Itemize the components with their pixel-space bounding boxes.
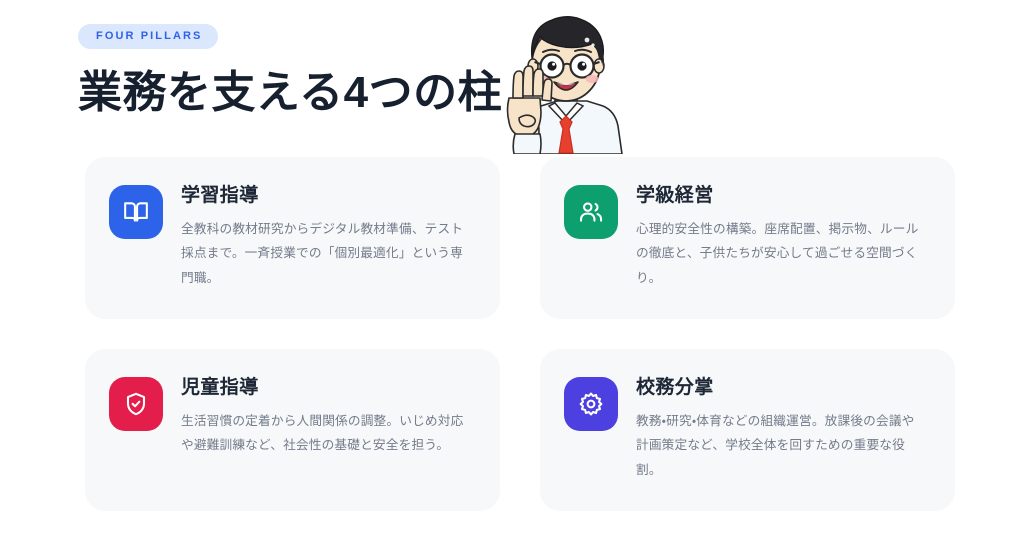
teacher-character-illustration <box>497 2 637 154</box>
page-title: 業務を支える4つの柱 <box>78 67 558 119</box>
pillar-card-gakkyu-keiei[interactable]: 学級経営 心理的安全性の構築。座席配置、掲示物、ルールの徹底と、子供たちが安心し… <box>540 157 955 319</box>
pillar-card-jido-shido[interactable]: 児童指導 生活習慣の定着から人間関係の調整。いじめ対応や避難訓練など、社会性の基… <box>85 349 500 511</box>
pillar-card-body: 学級経営 心理的安全性の構築。座席配置、掲示物、ルールの徹底と、子供たちが安心し… <box>636 183 925 290</box>
pillar-icon-tile <box>564 377 618 431</box>
pillar-card-body: 学習指導 全教科の教材研究からデジタル教材準備、テスト採点まで。一斉授業での「個… <box>181 183 470 290</box>
users-icon <box>578 199 604 225</box>
pillar-card-title: 校務分掌 <box>636 376 925 400</box>
gear-icon <box>578 391 604 417</box>
pillar-card-title: 学習指導 <box>181 184 470 208</box>
pillar-card-description: 教務・研究・体育などの組織運営。放課後の会議や計画策定など、学校全体を回すための… <box>636 409 925 482</box>
eyebrow-badge: FOUR PILLARS <box>78 24 218 49</box>
page-root: FOUR PILLARS 業務を支える4つの柱 <box>0 0 1024 538</box>
four-pillars-card-grid: 学習指導 全教科の教材研究からデジタル教材準備、テスト採点まで。一斉授業での「個… <box>85 157 955 511</box>
book-open-icon <box>123 199 149 225</box>
pillar-card-body: 児童指導 生活習慣の定着から人間関係の調整。いじめ対応や避難訓練など、社会性の基… <box>181 375 470 458</box>
pillar-card-body: 校務分掌 教務・研究・体育などの組織運営。放課後の会議や計画策定など、学校全体を… <box>636 375 925 482</box>
pillar-card-title: 学級経営 <box>636 184 925 208</box>
pillar-card-description: 心理的安全性の構築。座席配置、掲示物、ルールの徹底と、子供たちが安心して過ごせる… <box>636 217 925 290</box>
pillar-icon-tile <box>109 377 163 431</box>
page-header: FOUR PILLARS 業務を支える4つの柱 <box>78 24 558 119</box>
pillar-icon-tile <box>564 185 618 239</box>
pillar-card-description: 全教科の教材研究からデジタル教材準備、テスト採点まで。一斉授業での「個別最適化」… <box>181 217 470 290</box>
pillar-card-description: 生活習慣の定着から人間関係の調整。いじめ対応や避難訓練など、社会性の基礎と安全を… <box>181 409 470 458</box>
pillar-icon-tile <box>109 185 163 239</box>
pillar-card-komu-bunsho[interactable]: 校務分掌 教務・研究・体育などの組織運営。放課後の会議や計画策定など、学校全体を… <box>540 349 955 511</box>
pillar-card-title: 児童指導 <box>181 376 470 400</box>
pillar-card-gakushu-shido[interactable]: 学習指導 全教科の教材研究からデジタル教材準備、テスト採点まで。一斉授業での「個… <box>85 157 500 319</box>
shield-check-icon <box>123 391 149 417</box>
